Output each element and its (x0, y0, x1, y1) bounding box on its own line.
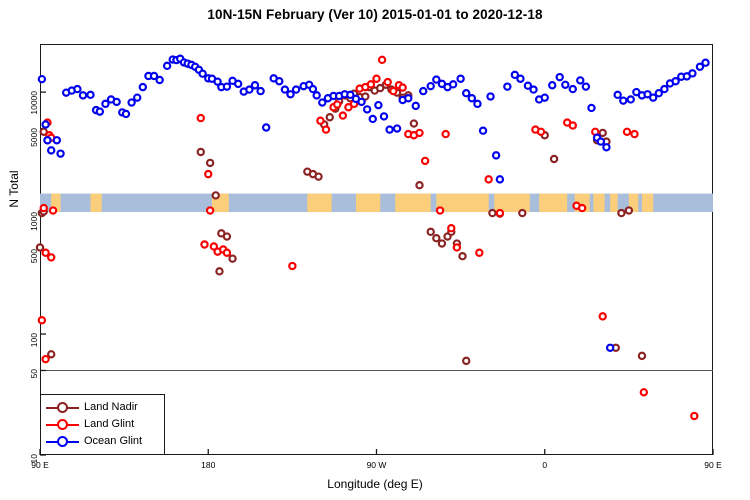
x-tick-label: 0 (515, 460, 575, 470)
x-tick-label: 90 E (10, 460, 70, 470)
y-tick-label: 10000 (29, 91, 39, 125)
legend: Land Nadir Land Glint Ocean Glint (40, 394, 165, 455)
x-tick-label: 90 W (347, 460, 407, 470)
y-tick-label: 500 (29, 249, 39, 283)
y-tick-label: 1000 (29, 212, 39, 246)
x-axis-label: Longitude (deg E) (0, 477, 750, 491)
page-title: 10N-15N February (Ver 10) 2015-01-01 to … (0, 7, 750, 22)
legend-marker-ocean-glint (46, 436, 79, 447)
figure: 10N-15N February (Ver 10) 2015-01-01 to … (0, 0, 750, 500)
legend-item-land-nadir: Land Nadir (46, 399, 159, 416)
y-tick-label: 100 (29, 333, 39, 367)
legend-label-ocean-glint: Ocean Glint (84, 436, 142, 447)
legend-marker-land-nadir (46, 402, 79, 413)
legend-item-ocean-glint: Ocean Glint (46, 433, 159, 450)
y-axis-label: N Total (7, 119, 21, 259)
legend-marker-land-glint (46, 419, 79, 430)
x-tick-label: 90 E (683, 460, 743, 470)
legend-label-land-glint: Land Glint (84, 419, 134, 430)
legend-label-land-nadir: Land Nadir (84, 402, 138, 413)
legend-item-land-glint: Land Glint (46, 416, 159, 433)
x-tick-label: 180 (178, 460, 238, 470)
y-tick-label: 5000 (29, 128, 39, 162)
y-tick-label: 50 (29, 369, 39, 403)
